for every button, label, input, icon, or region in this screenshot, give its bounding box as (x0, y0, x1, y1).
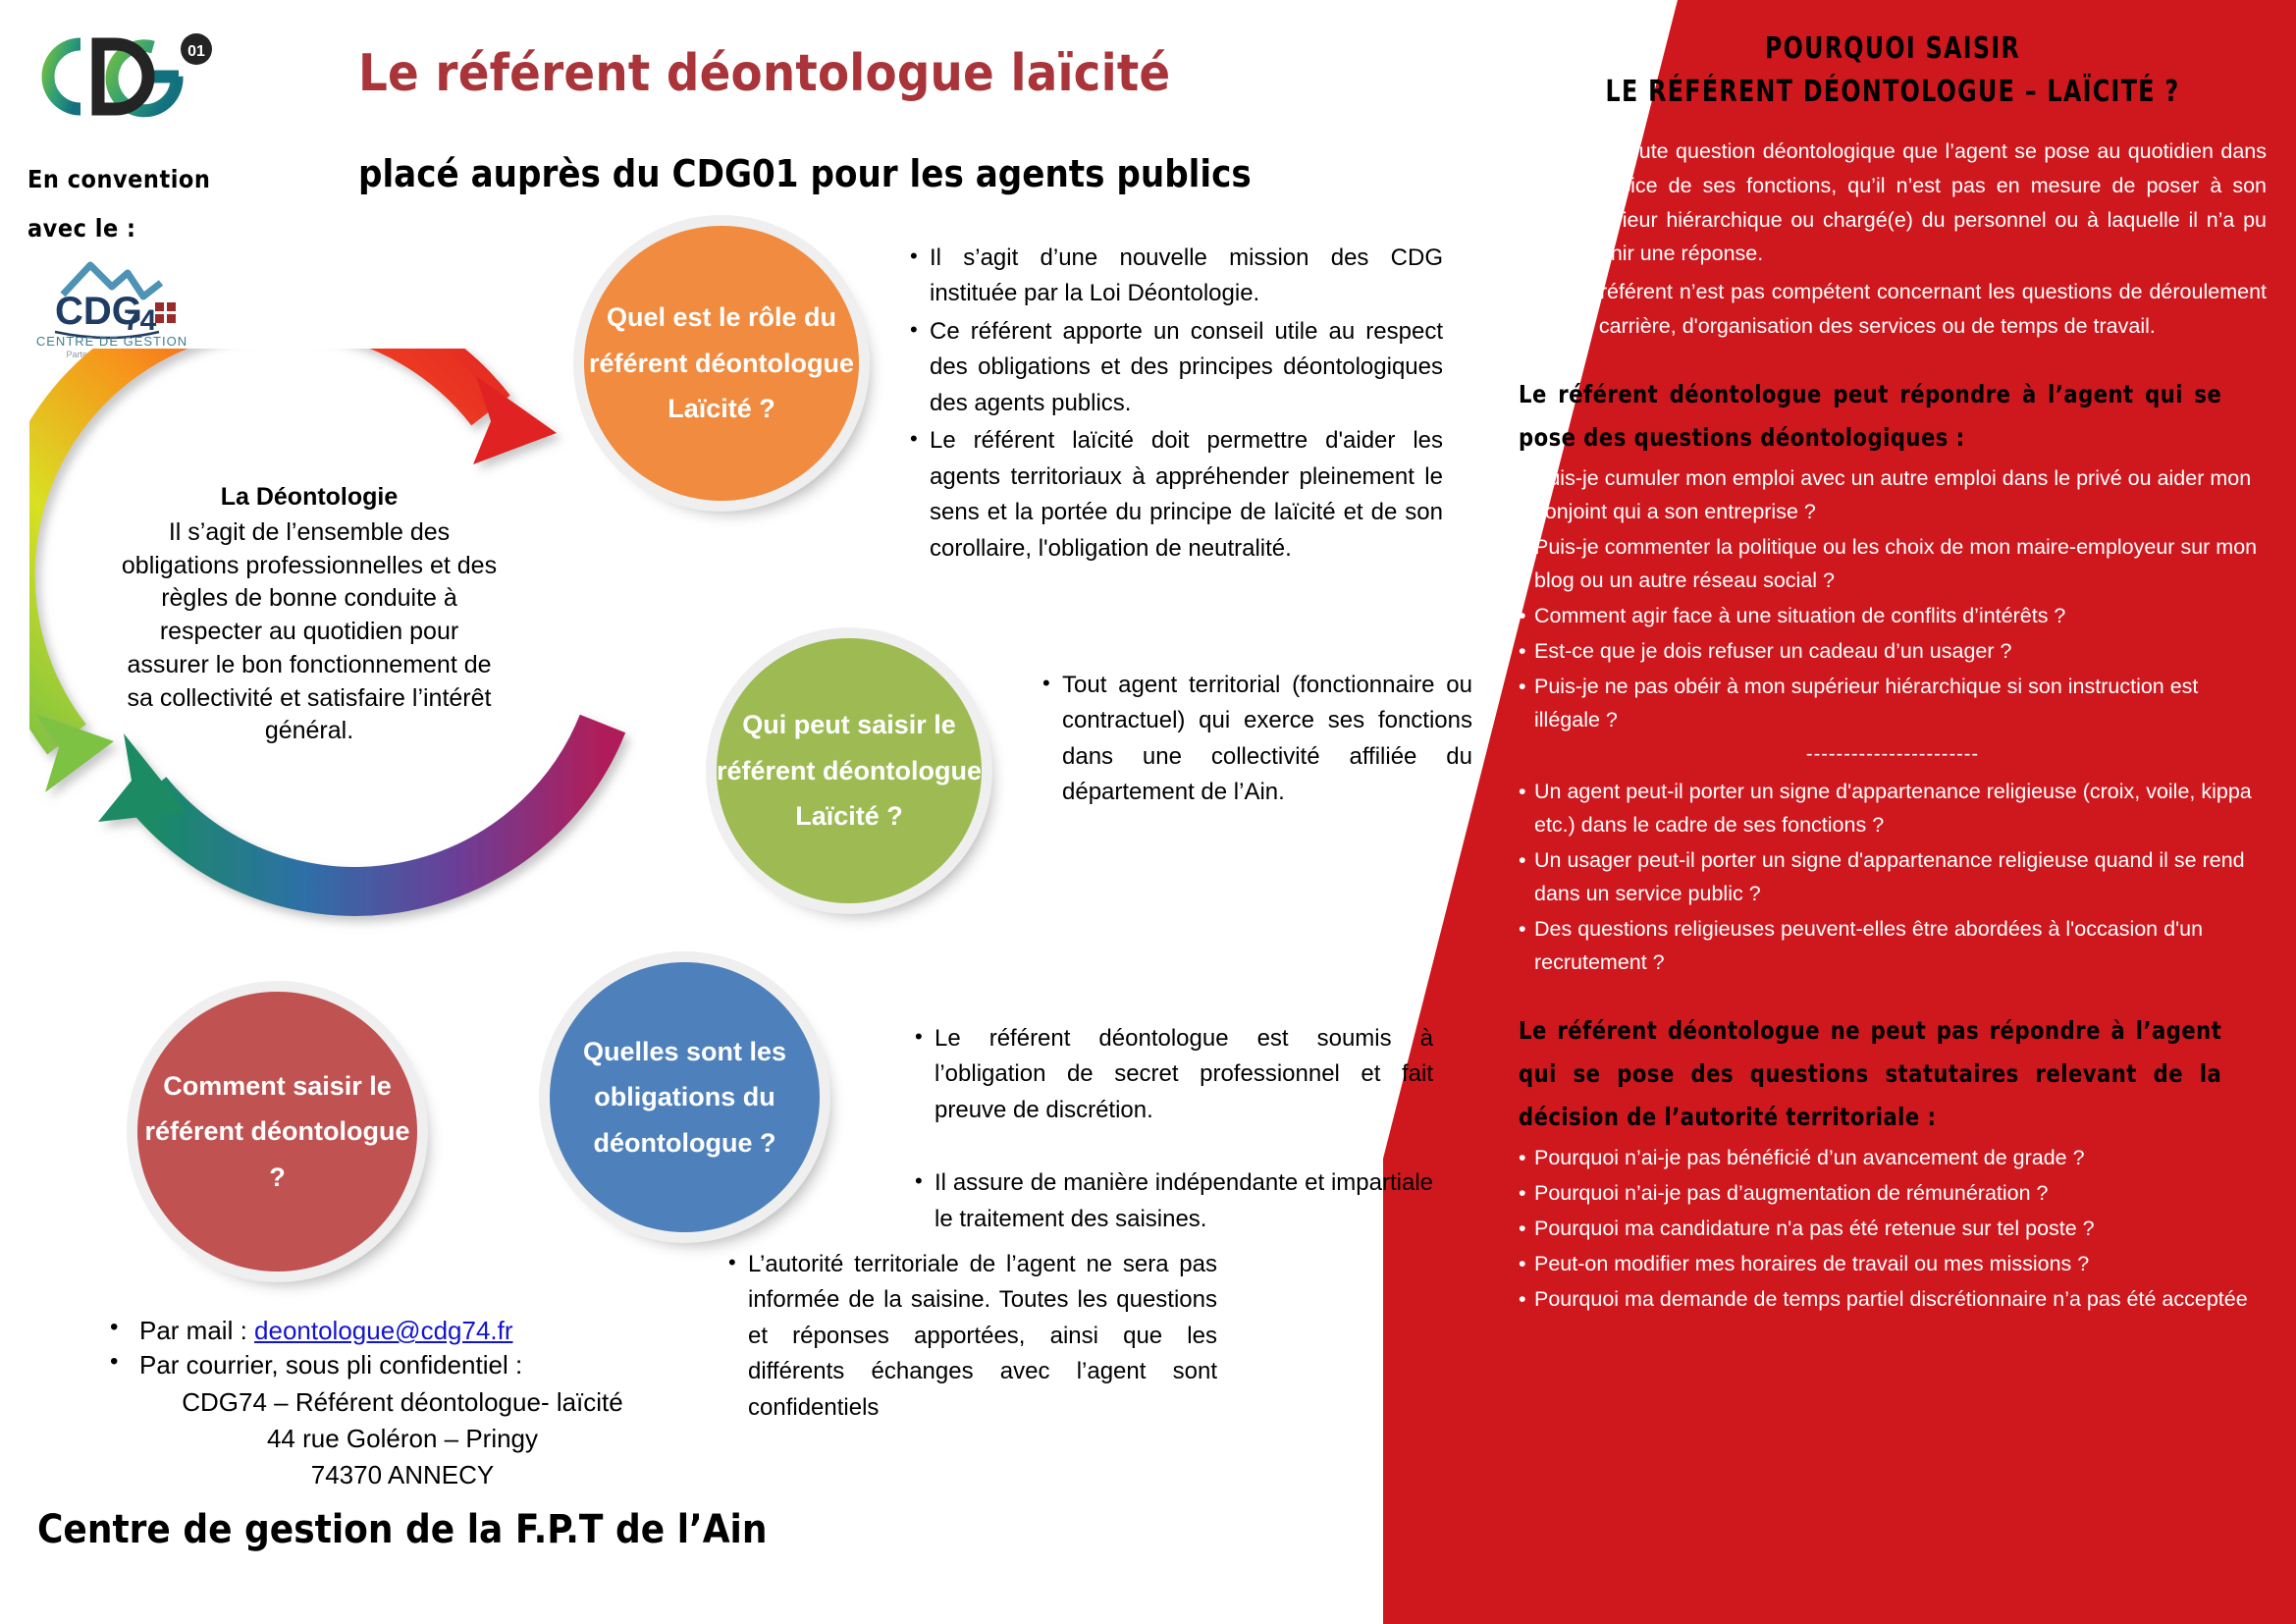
bubble-qui-label: Qui peut saisir le référent déontologue … (717, 702, 982, 839)
check-item-text: Le référent n’est pas compétent concerna… (1570, 280, 2267, 338)
list-item: Un agent peut-il porter un signe d'appar… (1519, 776, 2267, 842)
list-item: Des questions religieuses peuvent-elles … (1519, 913, 2267, 980)
address-line-1: CDG74 – Référent déontologue- laïcité (98, 1384, 707, 1421)
deontologie-definition: La Déontologie Il s’agit de l’ensemble d… (118, 481, 501, 748)
poster-page: POURQUOI SAISIR LE RÉFÉRENT DÉONTOLOGUE … (0, 0, 2296, 1624)
red-panel-check-list: ✓ Pour toute question déontologique que … (1519, 135, 2267, 344)
address-line-3: 74370 ANNECY (98, 1457, 707, 1493)
check-icon: ✓ (1536, 135, 1554, 169)
list-item: L’autorité territoriale de l’agent ne se… (726, 1247, 1217, 1426)
list-item: Ce référent apporte un conseil utile au … (908, 314, 1443, 421)
page-subtitle: placé auprès du CDG01 pour les agents pu… (358, 152, 1252, 195)
contact-mail-prefix: Par mail : (139, 1316, 254, 1345)
list-item: Un usager peut-il porter un signe d'appa… (1519, 844, 2267, 911)
deontologie-title: La Déontologie (118, 481, 501, 514)
bubble-obligations[interactable]: Quelles sont les obligations du déontolo… (550, 962, 820, 1232)
list-item: Puis-je commenter la politique ou les ch… (1519, 531, 2267, 598)
contact-mail-item: Par mail : deontologue@cdg74.fr (98, 1316, 707, 1346)
red-panel-content: POURQUOI SAISIR LE RÉFÉRENT DÉONTOLOGUE … (1491, 0, 2296, 1624)
list-item: ✓ Le référent n’est pas compétent concer… (1519, 275, 2267, 344)
bubble-role-referent[interactable]: Quel est le rôle du référent déontologue… (584, 226, 859, 501)
peut-question-list-2: Un agent peut-il porter un signe d'appar… (1519, 776, 2267, 980)
obligations-bullet-list: Le référent déontologue est soumis à l’o… (913, 1021, 1433, 1274)
list-item: Le référent laïcité doit permettre d'aid… (908, 423, 1443, 567)
cdg01-logo-number: 01 (187, 43, 205, 60)
cdg01-logo: 01 (29, 27, 216, 135)
bubble-role-label: Quel est le rôle du référent déontologue… (584, 295, 859, 431)
red-panel-title-line1: POURQUOI SAISIR (1564, 27, 2222, 71)
cdg74-logo: CDG 74 CENTRE DE GESTION Partenaire de p… (33, 253, 190, 361)
list-item: Puis-je cumuler mon emploi avec un autre… (1519, 462, 2267, 529)
list-item: Comment agir face à une situation de con… (1519, 600, 2267, 633)
check-icon: ✓ (1536, 276, 1554, 309)
ne-peut-question-list: Pourquoi n’ai-je pas bénéficié d’un avan… (1519, 1142, 2267, 1317)
list-item: Pourquoi n’ai-je pas d’augmentation de r… (1519, 1177, 2267, 1211)
list-item: Il assure de manière indépendante et imp… (913, 1165, 1433, 1237)
bubble-comment-label: Comment saisir le référent déontologue ? (137, 1063, 417, 1200)
contact-mail-link[interactable]: deontologue@cdg74.fr (254, 1316, 512, 1345)
heading-peut-repondre: Le référent déontologue peut répondre à … (1519, 373, 2221, 460)
contact-courrier-item: Par courrier, sous pli confidentiel : (98, 1350, 707, 1380)
bubble-obligations-label: Quelles sont les obligations du déontolo… (550, 1029, 820, 1165)
page-title: Le référent déontologue laïcité (358, 44, 1170, 103)
role-bullet-list: Il s’agit d’une nouvelle mission des CDG… (908, 241, 1443, 568)
address-line-2: 44 rue Goléron – Pringy (98, 1421, 707, 1457)
contact-address: CDG74 – Référent déontologue- laïcité 44… (98, 1384, 707, 1493)
page-footer: Centre de gestion de la F.P.T de l’Ain (37, 1507, 768, 1552)
list-item: ✓ Pour toute question déontologique que … (1519, 135, 2267, 271)
heading-ne-peut-pas-repondre: Le référent déontologue ne peut pas répo… (1519, 1009, 2221, 1138)
contact-block: Par mail : deontologue@cdg74.fr Par cour… (98, 1316, 707, 1493)
peut-question-list-1: Puis-je cumuler mon emploi avec un autre… (1519, 462, 2267, 737)
list-item: Pourquoi n’ai-je pas bénéficié d’un avan… (1519, 1142, 2267, 1175)
check-item-text: Pour toute question déontologique que l’… (1570, 139, 2267, 265)
red-panel-title-line2: LE RÉFÉRENT DÉONTOLOGUE – LAÏCITÉ ? (1564, 71, 2222, 114)
list-item: Le référent déontologue est soumis à l’o… (913, 1021, 1433, 1128)
cdg74-logo-number: 74 (124, 304, 157, 337)
deontologie-text: Il s’agit de l’ensemble des obligations … (122, 518, 497, 745)
list-item: Puis-je ne pas obéir à mon supérieur hié… (1519, 671, 2267, 737)
list-item: Pourquoi ma candidature n'a pas été rete… (1519, 1213, 2267, 1246)
list-item: Est-ce que je dois refuser un cadeau d’u… (1519, 635, 2267, 669)
qui-bullet-list: Tout agent territorial (fonctionnaire ou… (1041, 668, 1472, 813)
bubble-comment-saisir[interactable]: Comment saisir le référent déontologue ? (137, 992, 417, 1272)
cdg74-logo-subtitle: CENTRE DE GESTION (36, 334, 187, 349)
cycle-arc-bottom (98, 724, 603, 892)
autorite-bullet-list: L’autorité territoriale de l’agent ne se… (726, 1247, 1217, 1428)
bubble-qui-peut-saisir[interactable]: Qui peut saisir le référent déontologue … (717, 638, 982, 903)
list-item: Peut-on modifier mes horaires de travail… (1519, 1248, 2267, 1281)
list-item: Pourquoi ma demande de temps partiel dis… (1519, 1283, 2267, 1317)
list-item: Il s’agit d’une nouvelle mission des CDG… (908, 241, 1443, 312)
convention-line-2: avec le : (27, 214, 136, 243)
convention-line-1: En convention (27, 165, 210, 193)
divider: ----------------------- (1519, 743, 2267, 766)
list-item: Tout agent territorial (fonctionnaire ou… (1041, 668, 1472, 811)
